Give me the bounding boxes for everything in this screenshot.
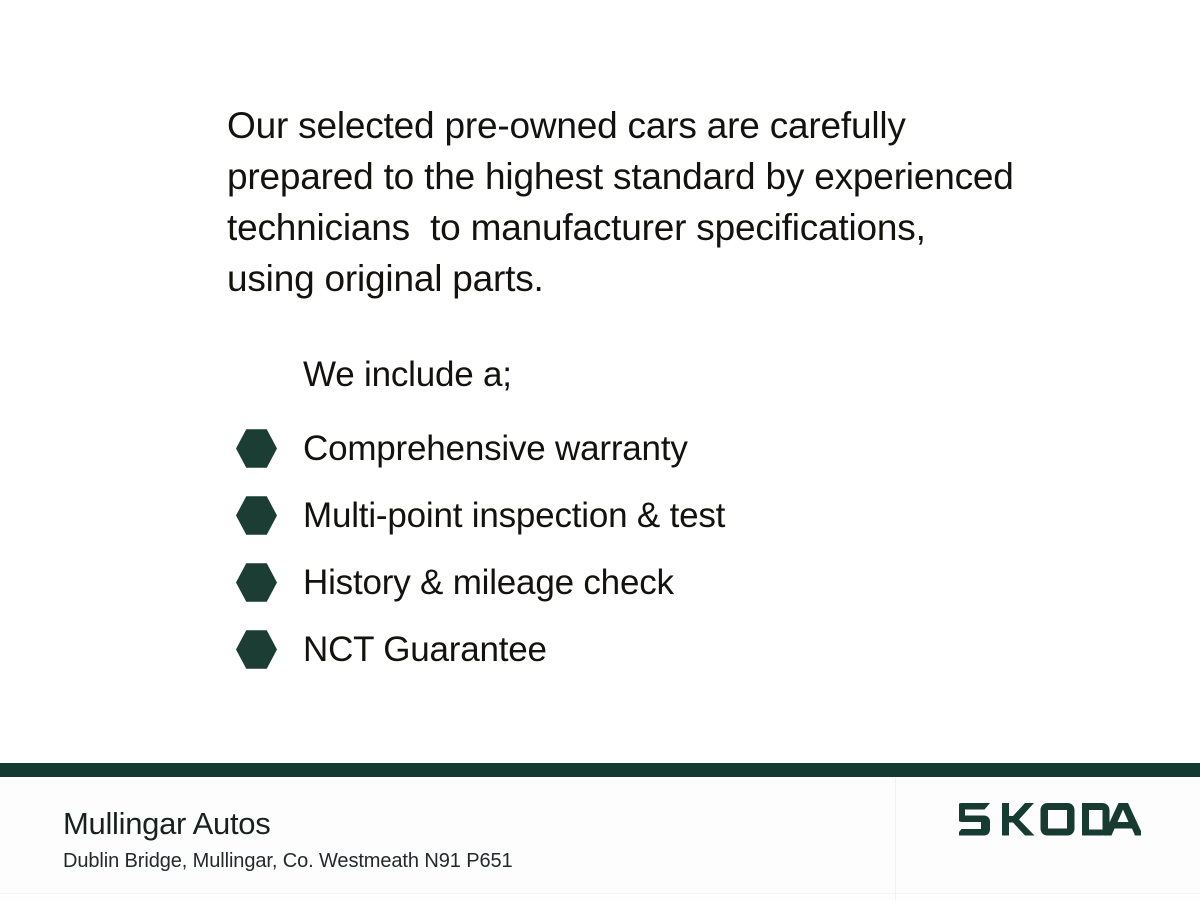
- footer-vertical-divider: [895, 777, 896, 900]
- promo-slide: Our selected pre-owned cars are carefull…: [0, 0, 1200, 900]
- skoda-wordmark-logo: [955, 797, 1145, 843]
- dealer-address: Dublin Bridge, Mullingar, Co. Westmeath …: [63, 847, 513, 875]
- intro-paragraph: Our selected pre-owned cars are carefull…: [227, 100, 1017, 304]
- list-item: History & mileage check: [236, 549, 996, 616]
- hexagon-bullet-icon: [236, 562, 277, 603]
- hexagon-bullet-icon: [236, 495, 277, 536]
- hexagon-bullet-icon: [236, 629, 277, 670]
- dealer-info: Mullingar Autos Dublin Bridge, Mullingar…: [63, 805, 513, 875]
- include-lead-text: We include a;: [303, 353, 512, 397]
- dealer-name: Mullingar Autos: [63, 805, 513, 843]
- inclusions-list: Comprehensive warranty Multi-point inspe…: [236, 415, 996, 683]
- list-item-label: Multi-point inspection & test: [303, 494, 725, 538]
- hexagon-bullet-icon: [236, 428, 277, 469]
- footer-accent-rule: [0, 763, 1200, 777]
- list-item-label: Comprehensive warranty: [303, 427, 688, 471]
- list-item-label: History & mileage check: [303, 561, 674, 605]
- list-item: Comprehensive warranty: [236, 415, 996, 482]
- footer-bottom-hairline: [0, 893, 1200, 894]
- list-item-label: NCT Guarantee: [303, 628, 547, 672]
- list-item: Multi-point inspection & test: [236, 482, 996, 549]
- list-item: NCT Guarantee: [236, 616, 996, 683]
